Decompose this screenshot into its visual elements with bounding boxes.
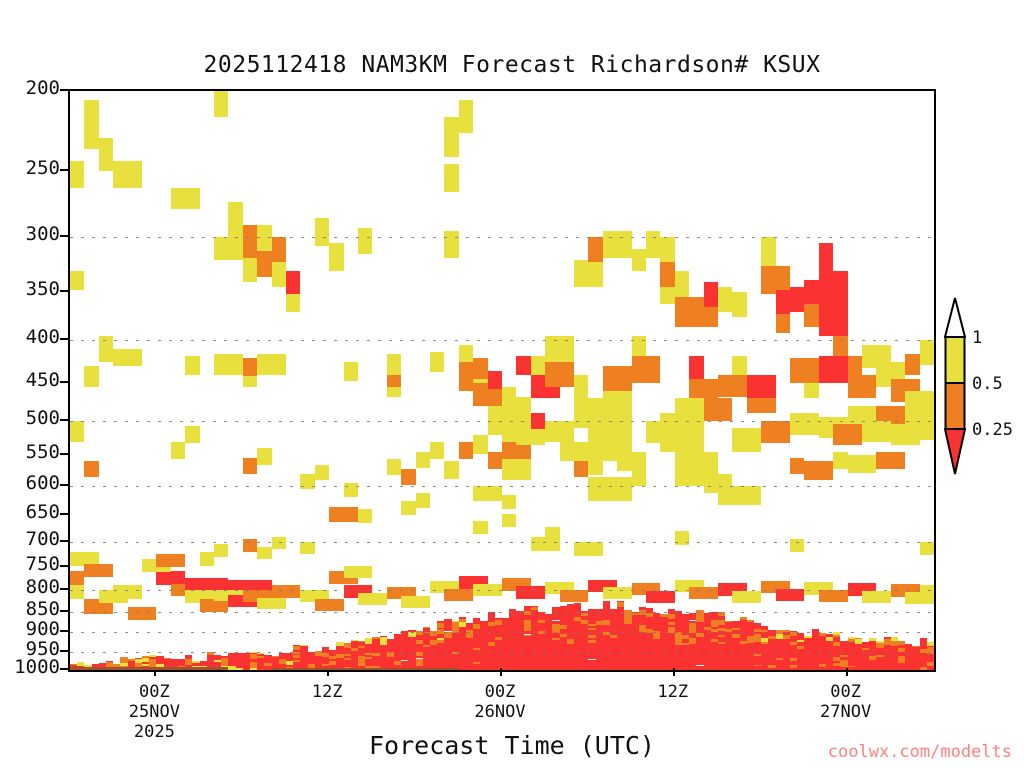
y-axis-tick-label: 500 — [26, 409, 60, 428]
heatmap-cell — [776, 652, 783, 655]
heatmap-cell — [905, 648, 912, 650]
heatmap-cell — [524, 636, 531, 640]
heatmap-cell — [653, 616, 660, 620]
heatmap-cell — [135, 658, 142, 660]
heatmap-cell — [473, 625, 480, 629]
page-title: 2025112418 NAM3KM Forecast Richardson# K… — [0, 52, 1024, 78]
heatmap-cell — [804, 645, 811, 650]
heatmap-cell — [660, 666, 667, 670]
heatmap-cell — [675, 647, 682, 649]
heatmap-cell — [365, 648, 372, 653]
heatmap-cell — [516, 634, 523, 636]
heatmap-cell — [689, 644, 696, 647]
heatmap-cell — [797, 668, 804, 670]
y-axis-tick-mark — [60, 453, 68, 455]
heatmap-cell — [459, 643, 466, 647]
heatmap-cell — [531, 643, 538, 648]
heatmap-cell — [300, 660, 307, 662]
heatmap-cell — [797, 637, 804, 640]
heatmap-cell — [473, 641, 480, 644]
heatmap-cell — [286, 657, 293, 661]
heatmap-cell — [545, 653, 552, 657]
heatmap-cell — [747, 636, 754, 641]
heatmap-cell — [581, 655, 588, 657]
heatmap-cell — [711, 651, 718, 655]
heatmap-cell — [891, 637, 898, 641]
heatmap-cell — [495, 649, 502, 654]
heatmap-cell — [646, 591, 675, 603]
heatmap-cell — [502, 619, 509, 623]
heatmap-cell — [653, 613, 660, 616]
heatmap-cell — [509, 666, 516, 670]
heatmap-cell — [596, 639, 603, 641]
heatmap-cell — [473, 651, 480, 655]
heatmap-cell — [545, 650, 552, 654]
heatmap-cell — [718, 622, 725, 625]
heatmap-cell — [588, 477, 631, 501]
heatmap-cell — [336, 646, 343, 649]
heatmap-cell — [689, 623, 696, 626]
y-axis-tick-label: 350 — [26, 280, 60, 299]
heatmap-cell — [905, 391, 934, 414]
heatmap-cell — [768, 630, 775, 631]
heatmap-cell — [732, 663, 739, 665]
heatmap-cell — [646, 647, 653, 649]
heatmap-cell — [848, 649, 855, 651]
heatmap-cell — [581, 633, 588, 635]
heatmap-cell — [70, 271, 84, 290]
heatmap-cell — [473, 358, 487, 379]
heatmap-cell — [783, 643, 790, 646]
heatmap-cell — [639, 642, 646, 645]
heatmap-cell — [466, 623, 473, 624]
heatmap-cell — [704, 650, 711, 653]
heatmap-cell — [826, 645, 833, 648]
heatmap-cell — [308, 659, 315, 662]
heatmap-cell — [833, 653, 840, 655]
heatmap-cell — [668, 649, 675, 654]
heatmap-cell — [747, 620, 754, 622]
heatmap-cell — [776, 630, 783, 631]
heatmap-cell — [387, 654, 394, 658]
heatmap-cell — [848, 654, 855, 658]
heatmap-cell — [689, 648, 696, 651]
heatmap-cell — [840, 664, 847, 667]
heatmap-cell — [588, 646, 595, 648]
heatmap-cell — [920, 542, 934, 555]
heatmap-cell — [502, 625, 509, 628]
heatmap-cell — [387, 375, 401, 387]
heatmap-cell — [509, 621, 516, 626]
heatmap-cell — [718, 642, 725, 644]
heatmap-cell — [444, 655, 451, 658]
heatmap-cell — [502, 656, 509, 661]
y-axis-tick-label: 800 — [26, 578, 60, 597]
heatmap-cell — [560, 668, 567, 670]
heatmap-cell — [898, 666, 905, 670]
heatmap-cell — [279, 653, 286, 657]
heatmap-cell — [77, 662, 84, 664]
heatmap-cell — [696, 648, 703, 651]
heatmap-cell — [603, 601, 610, 602]
heatmap-cell — [812, 666, 819, 670]
heatmap-cell — [905, 664, 912, 668]
heatmap-cell — [495, 632, 502, 635]
heatmap-cell — [322, 649, 329, 652]
heatmap-cell — [639, 638, 646, 643]
heatmap-cell — [776, 655, 783, 657]
heatmap-cell — [660, 614, 667, 616]
heatmap-cell — [711, 635, 718, 639]
heatmap-cell — [329, 651, 336, 656]
heatmap-cell — [603, 642, 610, 646]
heatmap-cell — [696, 633, 703, 637]
heatmap-cell — [704, 630, 711, 633]
heatmap-cell — [718, 620, 725, 622]
y-axis-tick-mark — [60, 169, 68, 171]
heatmap-cell — [315, 651, 322, 655]
heatmap-cell — [646, 641, 653, 644]
heatmap-cell — [416, 452, 430, 468]
heatmap-cell — [372, 637, 379, 638]
heatmap-cell — [358, 646, 365, 648]
heatmap-cell — [891, 667, 898, 670]
heatmap-cell — [840, 651, 847, 656]
heatmap-cell — [711, 665, 718, 669]
heatmap-cell — [516, 620, 523, 624]
heatmap-cell — [243, 655, 250, 660]
heatmap-cell — [336, 642, 343, 645]
heatmap-cell — [531, 630, 538, 633]
heatmap-cell — [588, 609, 595, 610]
heatmap-cell — [567, 651, 574, 654]
heatmap-cell — [336, 658, 343, 661]
heatmap-cell — [358, 653, 365, 656]
heatmap-cell — [480, 635, 487, 638]
heatmap-cell — [768, 653, 775, 657]
heatmap-cell — [416, 659, 423, 662]
heatmap-cell — [920, 653, 927, 656]
heatmap-cell — [668, 662, 675, 665]
heatmap-cell — [387, 660, 394, 664]
heatmap-cell — [768, 657, 775, 659]
heatmap-cell — [344, 648, 351, 651]
heatmap-cell — [646, 231, 660, 258]
heatmap-cell — [128, 661, 135, 663]
heatmap-cell — [632, 648, 639, 651]
heatmap-cell — [617, 631, 624, 635]
heatmap-cell — [452, 650, 459, 652]
heatmap-cell — [682, 645, 689, 648]
heatmap-cell — [178, 659, 185, 661]
y-axis-tick-mark — [60, 588, 68, 590]
heatmap-cell — [675, 656, 682, 660]
heatmap-cell — [488, 630, 495, 634]
heatmap-cell — [473, 660, 480, 662]
heatmap-cell — [869, 660, 876, 662]
heatmap-cell — [754, 666, 761, 670]
heatmap-cell — [466, 643, 473, 645]
heatmap-cell — [776, 665, 783, 668]
heatmap-cell — [610, 628, 617, 630]
heatmap-cell — [632, 662, 639, 665]
heatmap-cell — [264, 668, 271, 670]
heatmap-cell — [732, 292, 746, 317]
heatmap-cell — [819, 642, 826, 645]
heatmap-cell — [466, 638, 473, 642]
heatmap-cell — [804, 642, 811, 645]
heatmap-cell — [315, 663, 322, 666]
heatmap-cell — [819, 356, 848, 383]
heatmap-cell — [207, 652, 214, 655]
heatmap-cell — [797, 652, 804, 654]
heatmap-cell — [819, 667, 826, 670]
heatmap-cell — [358, 648, 365, 653]
heatmap-cell — [495, 640, 502, 644]
heatmap-cell — [920, 665, 927, 667]
heatmap-cell — [819, 633, 826, 636]
heatmap-cell — [444, 634, 451, 638]
heatmap-cell — [329, 656, 336, 659]
heatmap-cell — [423, 658, 430, 663]
heatmap-cell — [632, 249, 646, 271]
heatmap-cell — [740, 644, 747, 648]
heatmap-cell — [581, 651, 588, 655]
heatmap-cell — [704, 656, 711, 660]
heatmap-cell — [797, 658, 804, 661]
heatmap-cell — [488, 618, 495, 620]
heatmap-cell — [243, 376, 257, 386]
heatmap-cell — [884, 652, 891, 656]
heatmap-cell — [437, 621, 444, 623]
heatmap-cell — [430, 636, 437, 640]
heatmap-cell — [797, 646, 804, 649]
heatmap-cell — [783, 646, 790, 648]
heatmap-cell — [444, 461, 458, 479]
heatmap-cell — [718, 486, 761, 505]
heatmap-cell — [308, 652, 315, 655]
heatmap-cell — [804, 383, 818, 399]
heatmap-cell — [408, 655, 415, 657]
heatmap-cell — [358, 662, 365, 666]
heatmap-cell — [912, 664, 919, 666]
heatmap-cell — [876, 666, 883, 670]
colorbar-under-arrow — [945, 429, 965, 474]
heatmap-cell — [927, 656, 934, 660]
heatmap-cell — [819, 659, 826, 662]
heatmap-cell — [783, 635, 790, 639]
heatmap-cell — [725, 656, 732, 659]
heatmap-cell — [502, 623, 509, 625]
heatmap-cell — [682, 654, 689, 656]
heatmap-cell — [416, 640, 423, 643]
heatmap-cell — [696, 666, 703, 670]
heatmap-cell — [444, 619, 451, 624]
heatmap-cell — [660, 287, 674, 304]
heatmap-cell — [610, 642, 617, 645]
heatmap-cell — [610, 614, 617, 619]
heatmap-cell — [668, 647, 675, 649]
heatmap-cell — [876, 648, 883, 651]
heatmap-cell — [444, 628, 451, 632]
heatmap-cell — [624, 611, 631, 616]
heatmap-cell — [488, 634, 495, 638]
heatmap-cell — [459, 656, 466, 659]
heatmap-cell — [632, 612, 639, 614]
heatmap-cell — [884, 666, 891, 670]
heatmap-cell — [725, 663, 732, 665]
heatmap-cell — [358, 641, 365, 642]
heatmap-cell — [344, 654, 351, 656]
heatmap-cell — [848, 639, 855, 642]
heatmap-cell — [876, 651, 883, 655]
heatmap-cell — [192, 661, 199, 663]
heatmap-cell — [516, 658, 523, 662]
heatmap-cell — [552, 621, 559, 624]
heatmap-cell — [322, 653, 329, 656]
heatmap-cell — [639, 645, 646, 647]
heatmap-cell — [646, 627, 653, 629]
heatmap-cell — [243, 662, 250, 664]
heatmap-cell — [660, 649, 667, 651]
heatmap-cell — [516, 356, 530, 374]
heatmap-cell — [862, 666, 869, 670]
heatmap-cell — [596, 617, 603, 621]
heatmap-cell — [696, 658, 703, 662]
heatmap-cell — [718, 625, 725, 628]
heatmap-cell — [675, 649, 682, 651]
heatmap-cell — [898, 641, 905, 645]
heatmap-cell — [214, 660, 221, 663]
heatmap-cell — [610, 645, 617, 649]
heatmap-cell — [704, 619, 711, 622]
heatmap-cell — [567, 668, 574, 670]
heatmap-cell — [920, 651, 927, 653]
heatmap-cell — [668, 609, 675, 611]
heatmap-cell — [797, 663, 804, 665]
heatmap-cell — [552, 647, 559, 649]
heatmap-cell — [588, 668, 595, 670]
heatmap-cell — [927, 662, 934, 666]
y-axis-tick-mark — [60, 290, 68, 292]
heatmap-cell — [70, 585, 84, 598]
heatmap-cell — [660, 632, 667, 636]
colorbar-band-orange — [946, 383, 965, 429]
heatmap-cell — [516, 624, 523, 626]
heatmap-cell — [473, 644, 480, 647]
heatmap-cell — [264, 655, 271, 658]
y-axis-tick-mark — [60, 381, 68, 383]
heatmap-cell — [516, 617, 523, 619]
heatmap-cell — [380, 654, 387, 656]
heatmap-cell — [711, 648, 718, 651]
heatmap-cell — [372, 663, 379, 666]
heatmap-cell — [524, 620, 531, 624]
heatmap-cell — [480, 658, 487, 661]
heatmap-cell — [488, 638, 495, 642]
heatmap-cell — [704, 663, 711, 666]
heatmap-cell — [444, 658, 451, 662]
heatmap-cell — [912, 648, 919, 652]
heatmap-cell — [675, 645, 682, 647]
heatmap-cell — [401, 501, 415, 515]
heatmap-cell — [524, 653, 531, 656]
heatmap-cell — [725, 648, 732, 651]
heatmap-cell — [740, 652, 747, 654]
heatmap-cell — [452, 633, 459, 638]
heatmap-cell — [833, 661, 840, 664]
heatmap-cell — [545, 527, 559, 541]
heatmap-cell — [293, 652, 300, 654]
heatmap-cell — [826, 656, 833, 660]
heatmap-cell — [574, 542, 603, 556]
heatmap-cell — [668, 654, 675, 657]
heatmap-cell — [617, 622, 624, 627]
heatmap-cell — [300, 656, 307, 659]
heatmap-cell — [761, 635, 768, 637]
heatmap-cell — [898, 654, 905, 656]
heatmap-cell — [250, 662, 257, 665]
heatmap-cell — [884, 663, 891, 667]
heatmap-cell — [250, 652, 257, 653]
heatmap-cell — [351, 648, 358, 651]
heatmap-cell — [588, 640, 595, 643]
heatmap-cell — [459, 617, 466, 620]
heatmap-cell — [653, 650, 660, 653]
heatmap-cell — [538, 623, 545, 627]
heatmap-cell — [560, 609, 567, 614]
heatmap-cell — [459, 648, 466, 652]
heatmap-cell — [567, 647, 574, 649]
heatmap-cell — [286, 271, 300, 294]
heatmap-cell — [156, 662, 163, 664]
heatmap-cell — [516, 643, 523, 646]
heatmap-cell — [653, 625, 660, 627]
heatmap-cell — [408, 659, 415, 663]
heatmap-cell — [538, 661, 545, 666]
heatmap-cell — [668, 631, 675, 634]
heatmap-cell — [394, 661, 401, 665]
heatmap-cell — [344, 658, 351, 660]
heatmap-cell — [329, 243, 343, 271]
heatmap-cell — [423, 663, 430, 666]
y-axis-tick-mark — [60, 419, 68, 421]
heatmap-cell — [84, 461, 98, 477]
heatmap-cell — [588, 626, 595, 628]
heatmap-cell — [588, 638, 595, 641]
heatmap-cell — [668, 641, 675, 643]
heatmap-cell — [408, 648, 415, 651]
heatmap-cell — [437, 643, 444, 647]
heatmap-cell — [718, 616, 725, 620]
heatmap-cell — [545, 661, 552, 665]
heatmap-cell — [214, 655, 221, 656]
heatmap-cell — [920, 667, 927, 670]
heatmap-cell — [660, 647, 667, 649]
heatmap-cell — [574, 666, 581, 668]
heatmap-cell — [732, 653, 739, 657]
heatmap-cell — [99, 138, 113, 171]
heatmap-cell — [725, 654, 732, 656]
heatmap-cell — [574, 642, 581, 644]
heatmap-cell — [423, 632, 430, 634]
heatmap-cell — [696, 637, 703, 641]
heatmap-cell — [761, 644, 768, 648]
heatmap-cell — [430, 631, 437, 636]
heatmap-cell — [480, 653, 487, 658]
heatmap-cell — [538, 634, 545, 638]
heatmap-cell — [538, 643, 545, 646]
